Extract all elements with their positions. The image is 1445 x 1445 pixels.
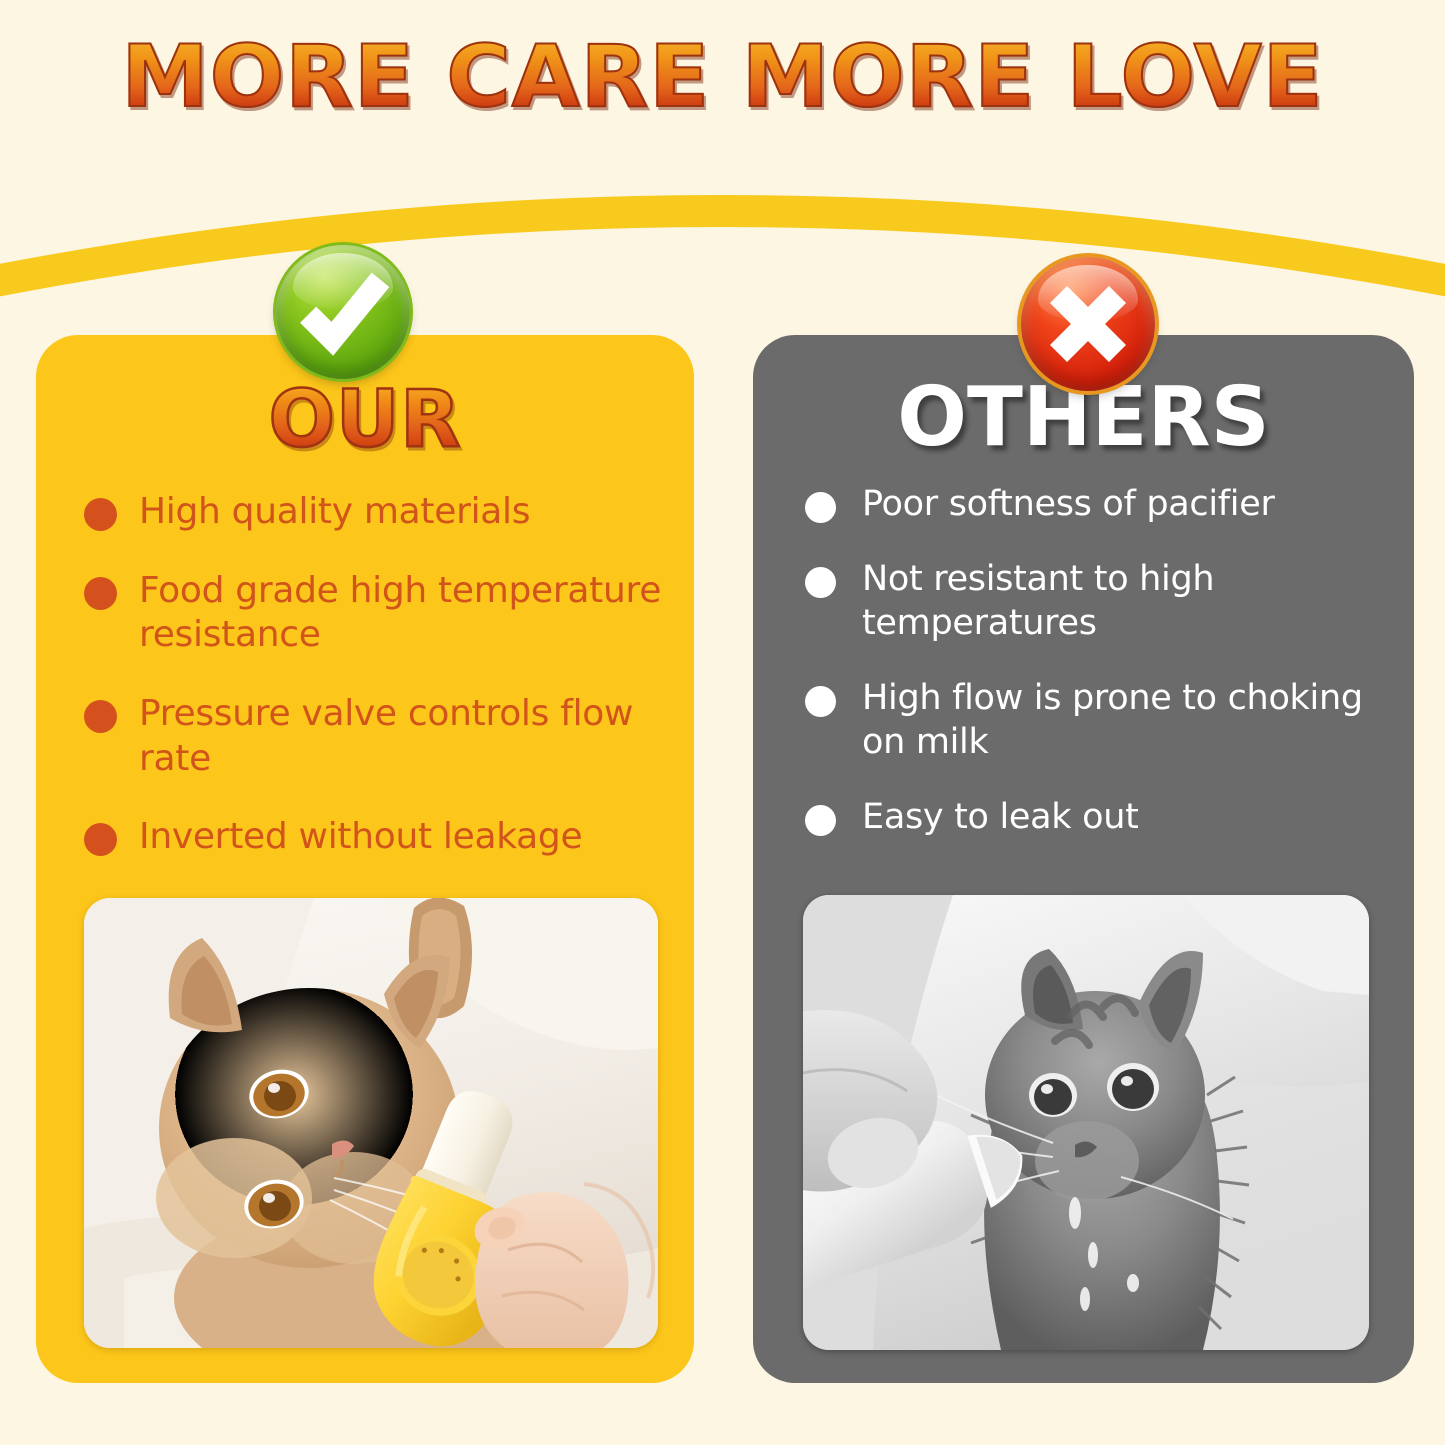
list-item: Pressure valve controls flow rate — [84, 692, 684, 781]
bullet-dot-icon — [84, 498, 117, 531]
list-item: High flow is prone to choking on milk — [805, 677, 1405, 764]
comparison-cards: OUR High quality materials Food grade hi… — [36, 335, 1414, 1383]
cross-mark-badge — [1021, 257, 1155, 391]
others-panel: OTHERS Poor softness of pacifier Not res… — [753, 335, 1414, 1383]
our-product-photo — [84, 898, 658, 1348]
list-item-label: Easy to leak out — [862, 796, 1139, 839]
list-item-label: Not resistant to high temperatures — [862, 558, 1405, 645]
our-panel: OUR High quality materials Food grade hi… — [36, 335, 694, 1383]
cross-mark-icon — [1021, 257, 1155, 391]
list-item: Poor softness of pacifier — [805, 483, 1405, 526]
our-heading: OUR — [36, 381, 694, 459]
list-item-label: High flow is prone to choking on milk — [862, 677, 1405, 764]
list-item: Not resistant to high temperatures — [805, 558, 1405, 645]
list-item-label: Pressure valve controls flow rate — [139, 692, 684, 781]
bullet-dot-icon — [805, 805, 836, 836]
bullet-dot-icon — [805, 686, 836, 717]
list-item: High quality materials — [84, 490, 684, 535]
list-item-label: High quality materials — [139, 490, 530, 535]
bullet-dot-icon — [84, 823, 117, 856]
others-product-photo — [803, 895, 1369, 1350]
others-drawbacks-list: Poor softness of pacifier Not resistant … — [805, 483, 1405, 871]
bullet-dot-icon — [805, 567, 836, 598]
bullet-dot-icon — [805, 492, 836, 523]
list-item-label: Inverted without leakage — [139, 815, 582, 860]
decorative-arc — [0, 150, 1445, 350]
our-benefits-list: High quality materials Food grade high t… — [84, 490, 684, 894]
bullet-dot-icon — [84, 700, 117, 733]
check-mark-badge — [276, 245, 410, 379]
list-item: Easy to leak out — [805, 796, 1405, 839]
list-item-label: Food grade high temperature resistance — [139, 569, 684, 658]
check-mark-icon — [276, 245, 410, 379]
page-title: MORE CARE MORE LOVE — [0, 34, 1445, 120]
bullet-dot-icon — [84, 577, 117, 610]
list-item-label: Poor softness of pacifier — [862, 483, 1275, 526]
infographic-page: MORE CARE MORE LOVE OUR High quality mat… — [0, 0, 1445, 1445]
list-item: Food grade high temperature resistance — [84, 569, 684, 658]
list-item: Inverted without leakage — [84, 815, 684, 860]
